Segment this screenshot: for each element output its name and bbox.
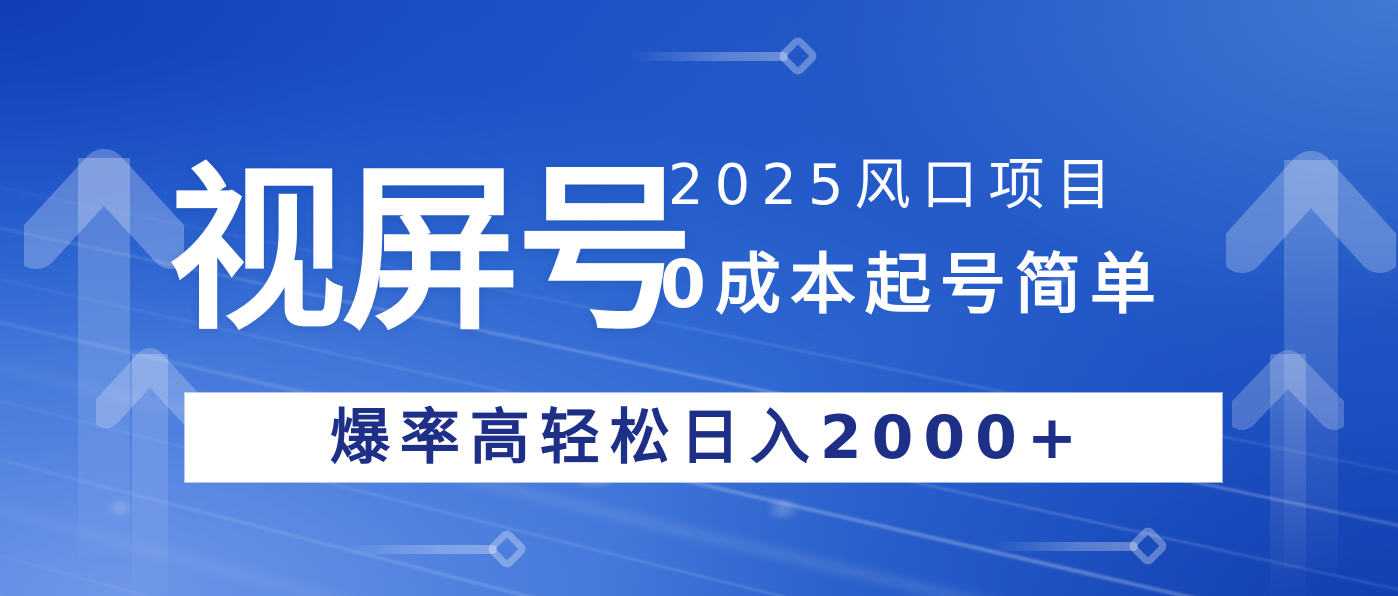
headline-line-1: 2025风口项目	[668, 158, 1123, 214]
arrow-up-icon	[1232, 330, 1344, 596]
diamond-icon	[990, 531, 1163, 561]
highlight-banner-text: 爆率高轻松日入2000+	[330, 408, 1087, 468]
headline-line-2: 0成本起号简单	[660, 252, 1165, 318]
diamond-icon	[345, 534, 522, 564]
diamond-icon	[630, 41, 813, 71]
promo-poster: 视屏号 2025风口项目 0成本起号简单 爆率高轻松日入2000+	[0, 0, 1398, 596]
highlight-banner: 爆率高轻松日入2000+	[185, 393, 1222, 482]
page-title: 视屏号	[168, 162, 690, 340]
